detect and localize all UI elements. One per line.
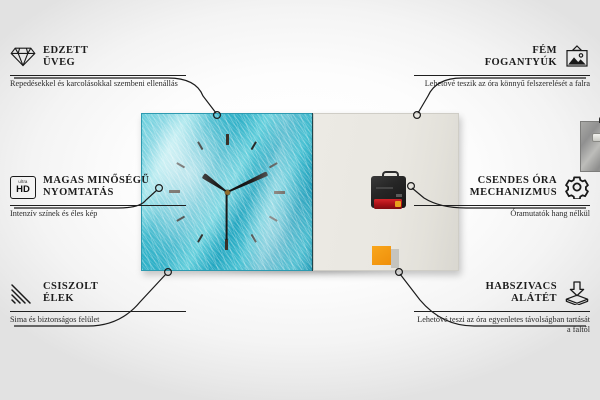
mechanism-slit (376, 187, 393, 189)
feature-tempered-glass: EDZETT ÜVEG Repedésekkel és karcolásokka… (10, 42, 186, 89)
feature-title-line1: FÉM (532, 45, 557, 56)
gear-icon (564, 174, 590, 200)
ultra-hd-badge-large-text: HD (16, 185, 30, 195)
feature-description: Intenzív színek és éles kép (10, 209, 186, 219)
battery-plus-terminal (395, 201, 401, 207)
feature-title-line2: ALÁTÉT (511, 293, 557, 304)
feature-divider (10, 311, 186, 312)
feature-title: CSISZOLT ÉLEK (43, 281, 98, 306)
feature-title-line2: NYOMTATÁS (43, 187, 114, 198)
feature-header: FÉM FOGANTYÚK (414, 42, 590, 72)
feature-header: EDZETT ÜVEG (10, 42, 186, 72)
polished-edges-icon (10, 280, 36, 306)
infographic-canvas: EDZETT ÜVEG Repedésekkel és karcolásokka… (0, 0, 600, 400)
foam-pad-arrow-icon (564, 280, 590, 306)
clock-mechanism (371, 171, 406, 208)
feature-title: EDZETT ÜVEG (43, 45, 88, 70)
feature-title-line1: CSENDES ÓRA (478, 175, 557, 186)
product-image (141, 113, 459, 271)
feature-title: FÉM FOGANTYÚK (485, 45, 557, 70)
feature-description: Lehetővé teszik az óra könnyű felszerelé… (414, 79, 590, 89)
feature-description: Repedésekkel és karcolásokkal szembeni e… (10, 79, 186, 89)
feature-divider (10, 205, 186, 206)
foam-pad-shadow (391, 249, 399, 268)
mechanism-body (371, 176, 406, 208)
feature-description: Óramutatók hang nélkül (414, 209, 590, 219)
ultra-hd-badge: ultra HD (10, 176, 36, 199)
feature-metal-handles: FÉM FOGANTYÚK Lehetővé teszik az óra kön… (414, 42, 590, 89)
feature-title: CSENDES ÓRA MECHANIZMUS (470, 175, 557, 200)
metal-hanger-plate (580, 121, 600, 172)
diamond-icon (10, 44, 36, 70)
feature-high-quality-print: ultra HD MAGAS MINŐSÉGŰ NYOMTATÁS Intenz… (10, 172, 186, 219)
feature-divider (414, 205, 590, 206)
feature-divider (414, 311, 590, 312)
feature-header: HABSZIVACS ALÁTÉT (414, 278, 590, 308)
feature-silent-mechanism: CSENDES ÓRA MECHANIZMUS Óramutatók hang … (414, 172, 590, 219)
feature-description: Sima és biztonságos felület (10, 315, 186, 325)
feature-title-line2: MECHANIZMUS (470, 187, 557, 198)
feature-header: CSISZOLT ÉLEK (10, 278, 186, 308)
feature-divider (10, 75, 186, 76)
feature-title-line1: CSISZOLT (43, 281, 98, 292)
feature-header: CSENDES ÓRA MECHANIZMUS (414, 172, 590, 202)
clock-center-cap (225, 190, 230, 195)
feature-title-line2: FOGANTYÚK (485, 57, 557, 68)
picture-frame-hanger-icon (564, 44, 590, 70)
clock-tick (227, 191, 285, 193)
feature-title-line1: EDZETT (43, 45, 88, 56)
feature-divider (414, 75, 590, 76)
foam-pad (372, 246, 391, 265)
clock-second-hand (226, 192, 228, 240)
feature-title-line2: ÉLEK (43, 293, 74, 304)
feature-title-line2: ÜVEG (43, 57, 75, 68)
feature-polished-edges: CSISZOLT ÉLEK Sima és biztonságos felüle… (10, 278, 186, 325)
ultra-hd-icon: ultra HD (10, 174, 36, 200)
feature-foam-pad: HABSZIVACS ALÁTÉT Lehetővé teszi az óra … (414, 278, 590, 335)
feature-title: HABSZIVACS ALÁTÉT (486, 281, 557, 306)
feature-title: MAGAS MINŐSÉGŰ NYOMTATÁS (43, 175, 149, 200)
feature-title-line1: HABSZIVACS (486, 281, 557, 292)
mechanism-chip (396, 194, 402, 197)
feature-title-line1: MAGAS MINŐSÉGŰ (43, 175, 149, 186)
hanger-slot (592, 133, 600, 142)
feature-header: ultra HD MAGAS MINŐSÉGŰ NYOMTATÁS (10, 172, 186, 202)
feature-description: Lehetővé teszi az óra egyenletes távolsá… (414, 315, 590, 335)
battery (374, 199, 402, 209)
clock-tick (226, 134, 228, 192)
